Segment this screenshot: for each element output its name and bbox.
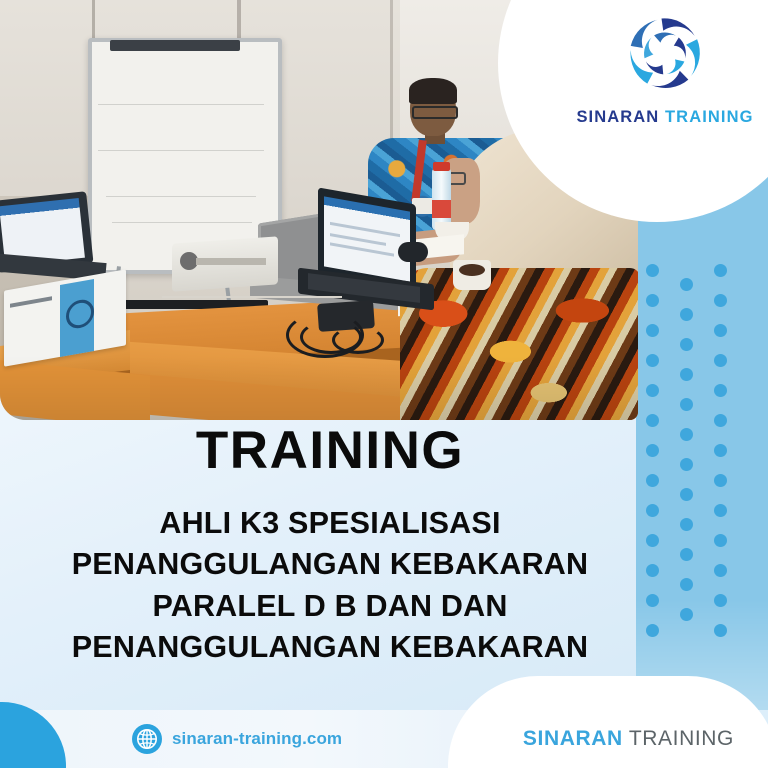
photo-board-line [98,104,264,105]
photo-water-bottle-center [432,168,451,230]
photo-water-bottle-center-label [432,200,451,218]
photo-board-line [98,150,264,151]
photo-flipchart-clip [110,40,240,51]
poster-text-block: TRAINING AHLI K3 SPESIALISASI PENANGGULA… [0,424,660,669]
sinaran-swirl-logo-icon [611,8,719,104]
website-link[interactable]: sinaran-training.com [132,724,342,754]
footer-white-blob [448,676,768,768]
subtitle-line-3: PARALEL D B DAN DAN [0,586,660,627]
subtitle-line-2: PENANGGULANGAN KEBAKARAN [0,544,660,585]
photo-board-line [106,196,256,197]
photo-projector-vent [196,258,266,265]
footer-brand-secondary: TRAINING [629,727,734,750]
poster-canvas: SINARAN TRAINING [0,0,768,768]
globe-icon [132,724,162,754]
brand-logo-name-primary: SINARAN [576,108,659,126]
subtitle-line-4: PENANGGULANGAN KEBAKARAN [0,627,660,668]
page-title: TRAINING [0,424,660,477]
photo-water-bottle-center-cap [433,162,450,171]
brand-logo-wordmark: SINARAN TRAINING [576,108,753,127]
photo-cable [332,326,384,354]
website-url-label: sinaran-training.com [172,729,342,749]
photo-person-instructor-glasses [412,106,458,119]
poster-subtitle: AHLI K3 SPESIALISASI PENANGGULANGAN KEBA… [0,503,660,669]
photo-bottom-shadow [0,356,638,420]
footer-corner-accent [0,702,66,768]
photo-board-line [112,222,252,223]
photo-computer-mouse [398,242,428,262]
brand-logo-name-secondary: TRAINING [665,108,754,126]
brand-logo[interactable]: SINARAN TRAINING [570,8,760,148]
photo-cable-thin [162,296,342,298]
photo-person-instructor-hair [409,78,457,104]
photo-coffee-liquid [459,264,485,276]
footer-brand[interactable]: SINARAN TRAINING [523,727,734,751]
subtitle-line-1: AHLI K3 SPESIALISASI [0,503,660,544]
footer-brand-primary: SINARAN [523,727,623,750]
poster-footer-bar: sinaran-training.com SINARAN TRAINING [0,710,768,768]
